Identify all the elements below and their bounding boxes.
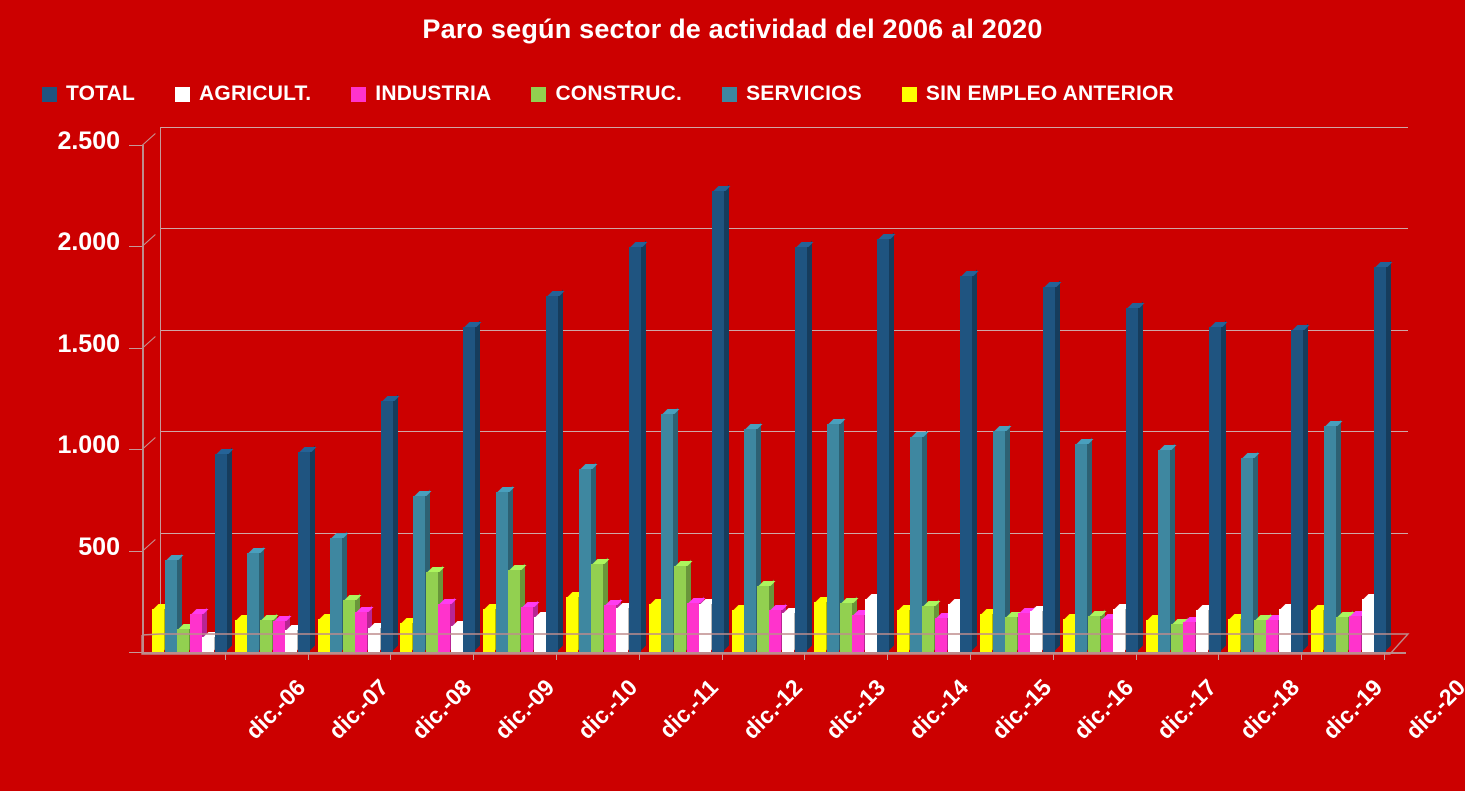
bar-front-face [744, 429, 756, 652]
x-axis-tick [1053, 653, 1054, 660]
bar[interactable] [1126, 308, 1138, 652]
bar-front-face [1196, 610, 1208, 652]
bar-front-face [732, 610, 744, 652]
bar-front-face [782, 613, 794, 652]
bar[interactable] [993, 431, 1005, 652]
bar[interactable] [744, 429, 756, 652]
bar-front-face [1291, 330, 1303, 652]
bar-front-face [661, 414, 673, 652]
y-axis-label-500: 500 [78, 533, 120, 562]
bar-front-face [247, 553, 259, 652]
x-axis-label-dic10: dic.-10 [572, 674, 643, 745]
bar-front-face [355, 612, 367, 652]
x-axis-label-dic06: dic.-06 [241, 674, 312, 745]
bar-front-face [1075, 444, 1087, 652]
bar-front-face [1063, 619, 1075, 652]
bar[interactable] [273, 621, 285, 652]
bar-front-face [795, 247, 807, 652]
y-axis-back-line [160, 127, 161, 634]
bar-front-face [1101, 619, 1113, 652]
bar-front-face [814, 602, 826, 652]
bar-front-face [1030, 611, 1042, 652]
bar[interactable] [566, 597, 578, 652]
bar[interactable] [483, 609, 495, 652]
bar[interactable] [980, 614, 992, 652]
bar[interactable] [1005, 617, 1017, 652]
y-axis-label-1000: 1.000 [57, 431, 120, 460]
bar-side-face [1055, 280, 1060, 650]
bar-front-face [993, 431, 1005, 652]
gridline-riser-2500 [142, 133, 156, 146]
bar[interactable] [687, 603, 699, 652]
x-axis-tick [1301, 653, 1302, 660]
x-axis-label-dic18: dic.-18 [1234, 674, 1305, 745]
bar-front-face [215, 454, 227, 652]
y-axis-tick [129, 145, 142, 146]
bar-front-face [566, 597, 578, 652]
bar[interactable] [1101, 619, 1113, 652]
bar[interactable] [852, 615, 864, 652]
bar[interactable] [922, 606, 934, 652]
bar[interactable] [1241, 458, 1253, 652]
x-axis-label-dic17: dic.-17 [1152, 674, 1223, 745]
bar-front-face [1336, 617, 1348, 652]
x-axis-tick [225, 653, 226, 660]
bar[interactable] [546, 296, 558, 652]
bar-front-face [827, 424, 839, 652]
bar-front-face [426, 572, 438, 652]
bar-front-face [616, 608, 628, 652]
bar-side-face [227, 448, 232, 651]
y-axis-tick [129, 348, 142, 349]
bar-front-face [865, 599, 877, 652]
x-axis-label-dic14: dic.-14 [903, 674, 974, 745]
bar[interactable] [1196, 610, 1208, 652]
bar-front-face [1183, 622, 1195, 652]
x-axis-tick [1136, 653, 1137, 660]
x-axis-label-dic09: dic.-09 [489, 674, 560, 745]
bar-front-face [400, 623, 412, 652]
bar-front-face [840, 603, 852, 652]
bar[interactable] [661, 414, 673, 652]
x-axis-tick [1218, 653, 1219, 660]
bar-side-face [724, 184, 729, 650]
bar[interactable] [1043, 287, 1055, 652]
bar-front-face [877, 239, 889, 652]
bar-front-face [757, 586, 769, 652]
bar[interactable] [426, 572, 438, 652]
y-axis-tick [129, 246, 142, 247]
bar-front-face [769, 610, 781, 652]
x-axis-label-dic11: dic.-11 [654, 674, 724, 744]
bar-front-face [152, 609, 164, 652]
bar-front-face [235, 620, 247, 652]
bar-front-face [591, 564, 603, 652]
bar[interactable] [1088, 616, 1100, 652]
gridline-2000 [160, 228, 1408, 229]
bar-front-face [1279, 609, 1291, 652]
bar-front-face [165, 560, 177, 652]
bar[interactable] [910, 437, 922, 652]
bar[interactable] [629, 247, 641, 652]
gridline-2500 [160, 127, 1408, 128]
bar-front-face [1228, 619, 1240, 652]
bar[interactable] [1291, 330, 1303, 652]
bar-side-face [310, 445, 315, 650]
bar[interactable] [318, 619, 330, 652]
bar-side-face [393, 394, 398, 650]
bar-front-face [1266, 620, 1278, 652]
bar[interactable] [616, 608, 628, 652]
bar[interactable] [1362, 599, 1374, 652]
bar[interactable] [948, 604, 960, 652]
bar-front-face [1311, 610, 1323, 652]
bar[interactable] [534, 617, 546, 652]
bar-front-face [1362, 599, 1374, 652]
bar[interactable] [757, 586, 769, 652]
x-axis-label-dic20: dic.-20 [1400, 674, 1465, 745]
x-axis-tick [970, 653, 971, 660]
bar[interactable] [330, 538, 342, 652]
bar[interactable] [1018, 613, 1030, 652]
bar[interactable] [1311, 610, 1323, 652]
bar[interactable] [496, 492, 508, 652]
bar[interactable] [827, 424, 839, 652]
bar-front-face [1349, 616, 1361, 652]
bar[interactable] [782, 613, 794, 652]
bar-front-face [1374, 267, 1386, 652]
bar-front-face [687, 603, 699, 652]
bar-front-face [521, 607, 533, 652]
x-axis-tick [556, 653, 557, 660]
bar[interactable] [877, 239, 889, 652]
bar-side-face [1386, 260, 1391, 650]
bar-side-face [1170, 444, 1175, 651]
bar[interactable] [712, 191, 724, 652]
bar[interactable] [343, 600, 355, 652]
bar-front-face [190, 614, 202, 652]
y-axis-tick [129, 652, 142, 653]
bar-side-face [475, 320, 480, 650]
bar-front-face [1018, 613, 1030, 652]
bar[interactable] [508, 570, 520, 652]
bar[interactable] [814, 602, 826, 652]
bar-front-face [910, 437, 922, 652]
bar-front-face [579, 469, 591, 652]
bar[interactable] [1063, 619, 1075, 652]
bar[interactable] [897, 610, 909, 652]
bar[interactable] [1349, 616, 1361, 652]
bar[interactable] [215, 454, 227, 652]
bar[interactable] [840, 603, 852, 652]
bar-front-face [1146, 620, 1158, 652]
bar-front-face [852, 615, 864, 652]
bar[interactable] [699, 604, 711, 652]
x-axis-tick [722, 653, 723, 660]
bar-front-face [438, 604, 450, 652]
bar[interactable] [795, 247, 807, 652]
x-axis-line [142, 652, 1406, 654]
bar-front-face [948, 604, 960, 652]
bar[interactable] [1336, 617, 1348, 652]
bar[interactable] [165, 560, 177, 652]
bar[interactable] [935, 618, 947, 652]
bar[interactable] [1266, 620, 1278, 652]
bar-side-face [889, 233, 894, 651]
bar-front-face [534, 617, 546, 652]
x-axis-label-dic12: dic.-12 [738, 674, 809, 745]
bar-front-face [368, 628, 380, 652]
bar-front-face [1254, 620, 1266, 652]
x-axis-tick [1384, 653, 1385, 660]
bar-side-face [1138, 302, 1143, 651]
bar[interactable] [521, 607, 533, 652]
x-axis-label-dic16: dic.-16 [1069, 674, 1140, 745]
bar-front-face [381, 401, 393, 652]
bar[interactable] [769, 610, 781, 652]
y-axis-tick [129, 551, 142, 552]
bar-side-face [641, 241, 646, 651]
bar[interactable] [177, 629, 189, 652]
bar[interactable] [438, 604, 450, 652]
bar-front-face [343, 600, 355, 652]
bar-front-face [413, 496, 425, 652]
chart-floor [0, 0, 1465, 791]
bar[interactable] [1228, 619, 1240, 652]
x-axis-label-dic13: dic.-13 [820, 674, 891, 745]
bar-front-face [922, 606, 934, 652]
x-axis-tick [639, 653, 640, 660]
bar[interactable] [190, 614, 202, 652]
x-axis-label-dic15: dic.-15 [986, 674, 1057, 745]
bar-front-face [285, 630, 297, 652]
bar-front-face [1209, 327, 1221, 652]
bar-side-face [972, 269, 977, 650]
bar[interactable] [674, 566, 686, 652]
bar-front-face [980, 614, 992, 652]
x-axis-tick [473, 653, 474, 660]
x-axis-label-dic19: dic.-19 [1317, 674, 1388, 745]
bar[interactable] [865, 599, 877, 652]
bar-front-face [674, 566, 686, 652]
chart-plot-area: 5001.0001.5002.0002.500dic.-06dic.-07dic… [0, 0, 1465, 791]
bar-front-face [604, 605, 616, 652]
y-axis-tick [129, 449, 142, 450]
bar[interactable] [381, 401, 393, 652]
bar-front-face [712, 191, 724, 652]
bar[interactable] [732, 610, 744, 652]
bar-front-face [463, 327, 475, 652]
bar[interactable] [1324, 426, 1336, 652]
bar[interactable] [1158, 450, 1170, 652]
bar-front-face [318, 619, 330, 652]
bar[interactable] [368, 628, 380, 652]
bar-side-face [558, 290, 563, 651]
bar-front-face [1126, 308, 1138, 652]
bar-front-face [1043, 287, 1055, 652]
bar[interactable] [247, 553, 259, 652]
bar[interactable] [298, 452, 310, 652]
bar[interactable] [604, 605, 616, 652]
x-axis-tick [308, 653, 309, 660]
x-axis-tick [887, 653, 888, 660]
bar[interactable] [1075, 444, 1087, 652]
bar-front-face [629, 247, 641, 652]
bar-front-face [897, 610, 909, 652]
bar[interactable] [1374, 267, 1386, 652]
y-axis-label-2000: 2.000 [57, 228, 120, 257]
y-axis-line [142, 145, 144, 654]
bar-front-face [483, 609, 495, 652]
x-axis-label-dic08: dic.-08 [406, 674, 477, 745]
bar[interactable] [285, 630, 297, 652]
bar-front-face [1241, 458, 1253, 652]
bar-front-face [960, 276, 972, 652]
bar-front-face [260, 620, 272, 652]
bar[interactable] [1113, 609, 1125, 652]
bar-front-face [649, 604, 661, 652]
bar-side-face [1221, 320, 1226, 650]
bar-front-face [298, 452, 310, 652]
bar-front-face [546, 296, 558, 652]
x-axis-tick [804, 653, 805, 660]
bar[interactable] [1171, 624, 1183, 652]
bar[interactable] [260, 620, 272, 652]
bar[interactable] [591, 564, 603, 652]
bar[interactable] [463, 327, 475, 652]
bar-side-face [807, 241, 812, 651]
bar-front-face [330, 538, 342, 652]
y-axis-label-1500: 1.500 [57, 330, 120, 359]
bar[interactable] [152, 609, 164, 652]
bar-side-face [1303, 323, 1308, 650]
bar-front-face [1005, 617, 1017, 652]
bar[interactable] [1183, 622, 1195, 652]
bar-front-face [1113, 609, 1125, 652]
bar[interactable] [202, 637, 214, 652]
x-axis-label-dic07: dic.-07 [324, 674, 395, 745]
bar-front-face [1324, 426, 1336, 652]
bar-front-face [451, 626, 463, 652]
bar[interactable] [1254, 620, 1266, 652]
bar-front-face [496, 492, 508, 652]
bar[interactable] [1209, 327, 1221, 652]
bar[interactable] [1146, 620, 1158, 652]
bar-front-face [1171, 624, 1183, 652]
bar[interactable] [1030, 611, 1042, 652]
bar[interactable] [1279, 609, 1291, 652]
y-axis-label-2500: 2.500 [57, 127, 120, 156]
bar[interactable] [960, 276, 972, 652]
bar-front-face [273, 621, 285, 652]
bar[interactable] [400, 623, 412, 652]
x-axis-tick [390, 653, 391, 660]
bar[interactable] [579, 469, 591, 652]
bar-front-face [1158, 450, 1170, 652]
bar[interactable] [413, 496, 425, 652]
bar-front-face [935, 618, 947, 652]
bar-front-face [508, 570, 520, 652]
bar-front-face [699, 604, 711, 652]
bar[interactable] [451, 626, 463, 652]
bar[interactable] [649, 604, 661, 652]
bar[interactable] [235, 620, 247, 652]
bar-front-face [1088, 616, 1100, 652]
bar-front-face [177, 629, 189, 652]
bar-front-face [202, 637, 214, 652]
bar[interactable] [355, 612, 367, 652]
